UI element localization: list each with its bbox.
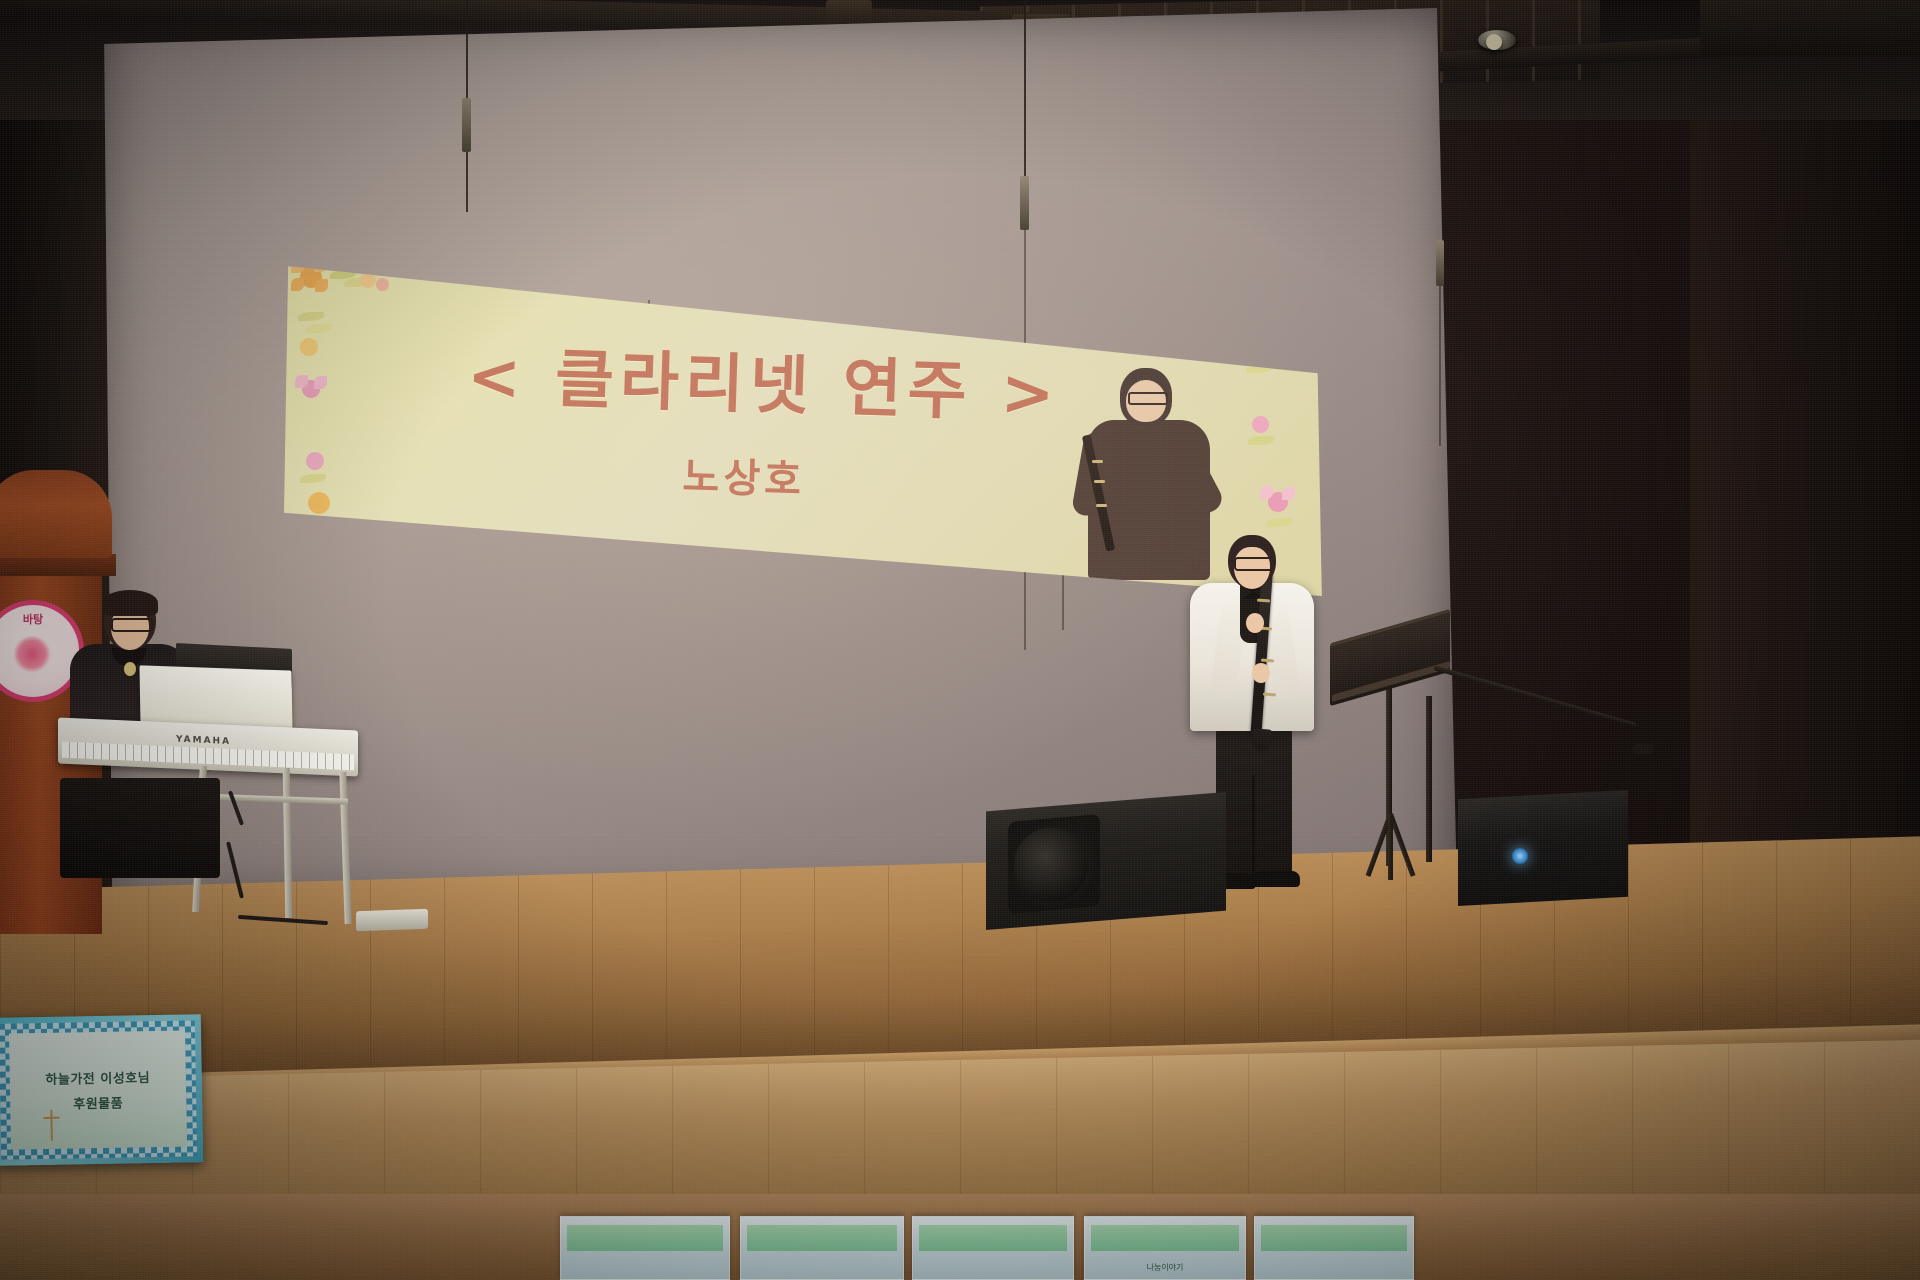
keyboard-amp-box (60, 778, 220, 878)
power-led-indicator (1512, 848, 1528, 864)
slide-subtitle: 노상호 (583, 441, 905, 509)
stage-photograph: < 클라리넷 연주 > 노상호 바탕 YAMAHA (0, 0, 1920, 1280)
keyboard-brand-label: YAMAHA (176, 735, 231, 747)
power-strip (356, 909, 428, 932)
hand-lower (1252, 663, 1270, 683)
booklet-cover-image (1091, 1225, 1239, 1251)
mic-stand-pole (1426, 696, 1432, 862)
glasses-icon (111, 618, 153, 632)
booklet-cover-image (919, 1225, 1067, 1251)
booklet-item: 나눔이야기 (1084, 1216, 1246, 1280)
booklet-cover-image (747, 1225, 897, 1251)
pianist-brooch (124, 662, 136, 676)
placard-inner: 하늘가전 이성호님 후원물품 (9, 1030, 187, 1149)
monitor-woofer (1014, 828, 1088, 902)
booklet-item (912, 1216, 1074, 1280)
microphone-icon (1632, 744, 1654, 754)
trouser-seam (1252, 775, 1255, 877)
booklet-item (560, 1216, 730, 1280)
spotlight-lens-icon (1486, 34, 1502, 50)
booklet-item (740, 1216, 904, 1280)
cable-weight (462, 98, 471, 152)
clarinet-key-icon (1092, 460, 1103, 463)
music-stand-leg (1388, 814, 1393, 880)
hanging-cable (1439, 286, 1441, 446)
windmill-icon (42, 1115, 60, 1141)
sponsor-placard: 하늘가전 이성호님 후원물품 (0, 1014, 203, 1166)
booklet-cover-image (567, 1225, 723, 1251)
slide-title: < 클라리넷 연주 > (443, 324, 1086, 436)
booklet-item (1254, 1216, 1414, 1280)
ceiling-beam (1700, 0, 1920, 56)
placard-line-2: 후원물품 (73, 1093, 123, 1113)
clarinet-key-icon (1096, 504, 1107, 507)
hanging-cable (466, 0, 468, 100)
hanging-cable (466, 152, 468, 212)
pianist-hair (102, 590, 158, 616)
hanging-cable (1024, 0, 1026, 178)
booklet-cover-image (1261, 1225, 1407, 1251)
clarinet-key-icon (1094, 480, 1105, 483)
stage-monitor-right (1458, 790, 1628, 906)
cable-weight (1020, 176, 1029, 230)
booklet-label: 나눔이야기 (1085, 1262, 1245, 1273)
placard-line-1: 하늘가전 이성호님 (45, 1067, 150, 1088)
shoe-right (1252, 871, 1300, 887)
glasses-icon (1234, 557, 1275, 571)
emblem-flower-icon (13, 635, 51, 673)
hand-upper (1246, 613, 1264, 633)
cable-weight (1436, 240, 1444, 286)
podium-top (0, 470, 112, 558)
glasses-icon (1128, 392, 1168, 405)
